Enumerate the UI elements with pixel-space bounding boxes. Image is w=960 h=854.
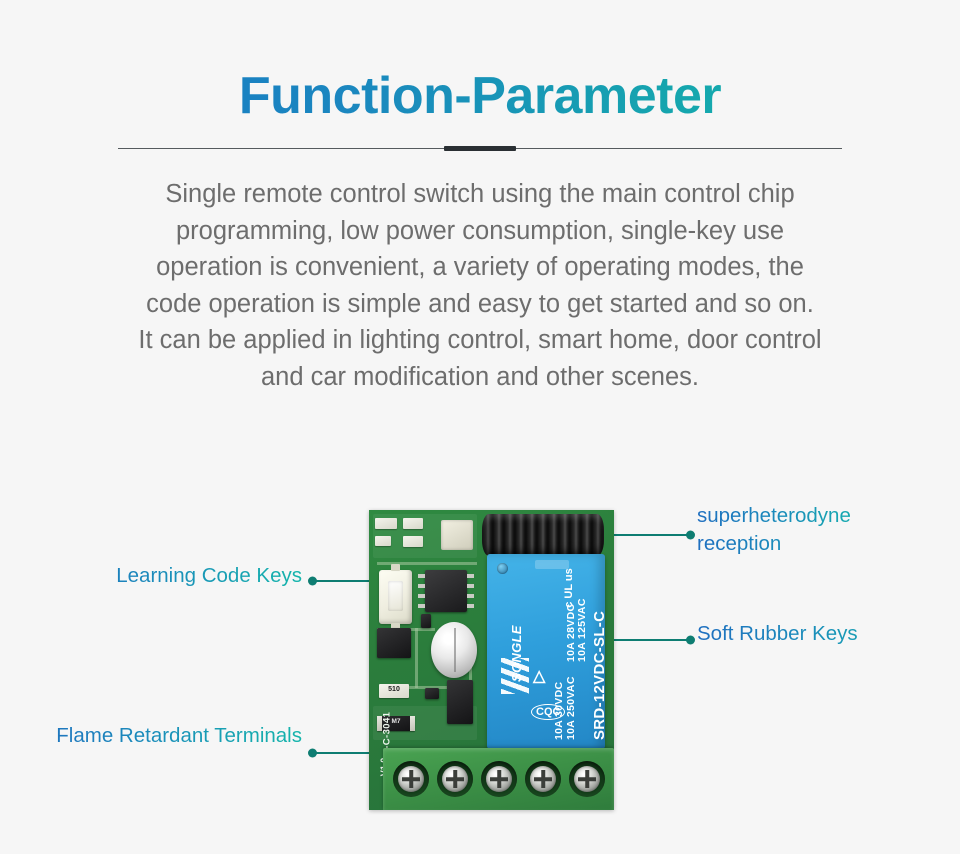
smd-resistor	[403, 518, 423, 529]
relay-model: SRD-12VDC-SL-C	[591, 611, 608, 740]
intro-line: It can be applied in lighting control, s…	[80, 322, 880, 359]
screw-terminal-block	[383, 748, 614, 810]
smd-resistor	[375, 518, 397, 529]
screw-icon	[486, 766, 512, 792]
callout-learning-code-keys: Learning Code Keys	[40, 562, 302, 590]
intro-line: programming, low power consumption, sing…	[80, 213, 880, 250]
pcb-trace	[415, 628, 418, 688]
callout-superheterodyne-reception: superheterodyne reception	[697, 502, 879, 558]
ic-pin	[467, 594, 474, 598]
antenna-coil	[482, 514, 604, 556]
screw-icon	[530, 766, 556, 792]
leader-dot	[308, 577, 317, 586]
ic-pin	[418, 574, 425, 578]
ic-pin	[418, 604, 425, 608]
leader-dot	[686, 636, 695, 645]
terminal-4	[525, 761, 561, 797]
terminal-2	[437, 761, 473, 797]
terminal-1	[393, 761, 429, 797]
ic-pin	[418, 594, 425, 598]
terminal-3	[481, 761, 517, 797]
learning-code-button[interactable]	[379, 570, 412, 624]
relay-screw	[497, 563, 508, 574]
intro-paragraph: Single remote control switch using the m…	[80, 176, 880, 395]
terminal-5	[569, 761, 605, 797]
relay-rating-dc-2: 10A 28VDC	[565, 604, 577, 662]
callout-soft-rubber-keys: Soft Rubber Keys	[697, 620, 937, 648]
ul-mark-icon: c UL us	[563, 568, 575, 608]
smd-resistor	[403, 536, 423, 547]
main-control-chip	[425, 570, 467, 612]
intro-line: operation is convenient, a variety of op…	[80, 249, 880, 286]
relay-module: SONGLE SRD-12VDC-SL-C 10A 250VAC 10A 30V…	[487, 554, 605, 749]
leader-dot	[308, 749, 317, 758]
smd-component	[421, 614, 431, 628]
relay-rating-ac-1: 10A 250VAC	[565, 676, 577, 740]
header-divider	[118, 146, 842, 152]
intro-line: and car modification and other scenes.	[80, 359, 880, 396]
leader-line-superheterodyne-reception	[602, 534, 692, 536]
warning-triangle-icon: △	[533, 666, 545, 686]
screw-icon	[442, 766, 468, 792]
smd-transistor	[377, 628, 411, 658]
page-title: Function-Parameter	[0, 66, 960, 126]
smd-component	[425, 688, 439, 699]
crystal-oscillator	[441, 520, 473, 550]
ic-pin	[467, 584, 474, 588]
ic-pin	[418, 584, 425, 588]
intro-line: Single remote control switch using the m…	[80, 176, 880, 213]
button-tab	[391, 564, 400, 571]
callout-flame-retardant-terminals: Flame Retardant Terminals	[20, 722, 302, 750]
resistor-510: 510	[379, 684, 409, 698]
relay-rating-ac-2: 10A 125VAC	[576, 598, 588, 662]
leader-dot	[686, 531, 695, 540]
ic-pin	[467, 604, 474, 608]
product-diagram: Learning Code Keys Flame Retardant Termi…	[0, 440, 960, 854]
ic-pin	[467, 574, 474, 578]
screw-icon	[398, 766, 424, 792]
electrolytic-capacitor	[431, 622, 477, 678]
pcb-board: 510 M7 SONGLE SRD-12VDC-SL-C 10A 250VAC …	[369, 510, 614, 810]
smd-transistor	[447, 680, 473, 724]
smd-resistor	[375, 536, 391, 546]
intro-line: code operation is simple and easy to get…	[80, 286, 880, 323]
relay-brand: SONGLE	[509, 625, 524, 682]
screw-icon	[574, 766, 600, 792]
divider-accent	[444, 146, 516, 151]
